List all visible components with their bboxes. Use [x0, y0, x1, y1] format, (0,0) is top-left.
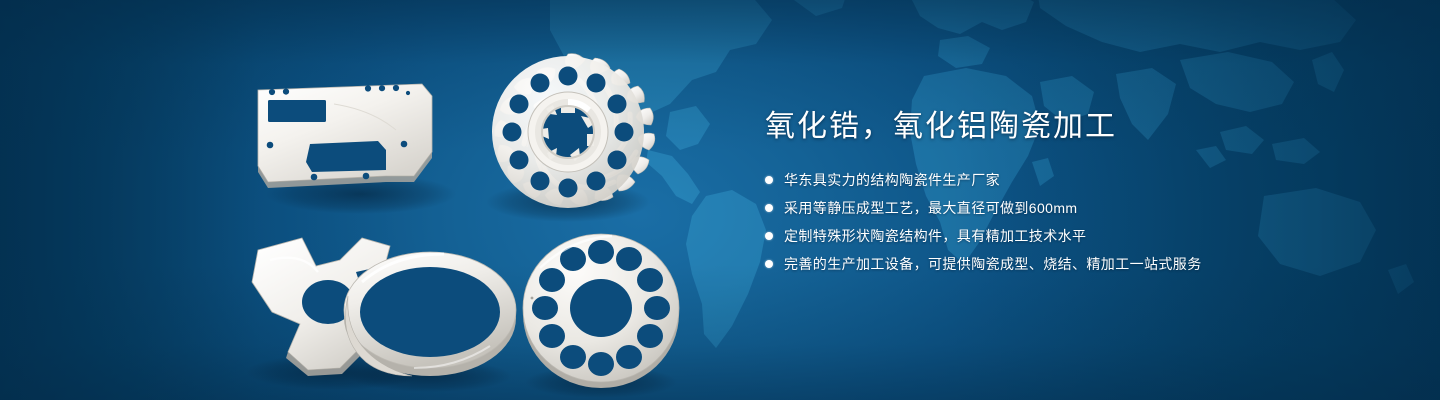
- bullet-dot-icon: [765, 204, 773, 212]
- hero-banner: 氧化锆，氧化铝陶瓷加工 华东具实力的结构陶瓷件生产厂家 采用等静压成型工艺，最大…: [0, 0, 1440, 400]
- bullet-dot-icon: [765, 232, 773, 240]
- feature-item: 定制特殊形状陶瓷结构件，具有精加工技术水平: [765, 224, 1365, 248]
- feature-text: 完善的生产加工设备，可提供陶瓷成型、烧结、精加工一站式服务: [784, 252, 1202, 276]
- feature-text: 定制特殊形状陶瓷结构件，具有精加工技术水平: [784, 224, 1086, 248]
- ceramic-perforated-disc: [523, 234, 679, 398]
- banner-headline: 氧化锆，氧化铝陶瓷加工: [765, 108, 1365, 146]
- ceramic-impeller-disc: [486, 54, 655, 222]
- banner-copy: 氧化锆，氧化铝陶瓷加工 华东具实力的结构陶瓷件生产厂家 采用等静压成型工艺，最大…: [765, 108, 1365, 280]
- ceramic-flat-plate: [258, 84, 456, 214]
- feature-item: 华东具实力的结构陶瓷件生产厂家: [765, 168, 1365, 192]
- feature-item: 采用等静压成型工艺，最大直径可做到600mm: [765, 196, 1365, 220]
- feature-item: 完善的生产加工设备，可提供陶瓷成型、烧结、精加工一站式服务: [765, 252, 1365, 276]
- feature-text: 华东具实力的结构陶瓷件生产厂家: [784, 168, 1000, 192]
- feature-text: 采用等静压成型工艺，最大直径可做到600mm: [784, 196, 1077, 220]
- bullet-dot-icon: [765, 176, 773, 184]
- feature-list: 华东具实力的结构陶瓷件生产厂家 采用等静压成型工艺，最大直径可做到600mm 定…: [765, 168, 1365, 276]
- ceramic-parts-photo: [236, 34, 686, 384]
- ceramic-ring: [344, 252, 516, 392]
- bullet-dot-icon: [765, 260, 773, 268]
